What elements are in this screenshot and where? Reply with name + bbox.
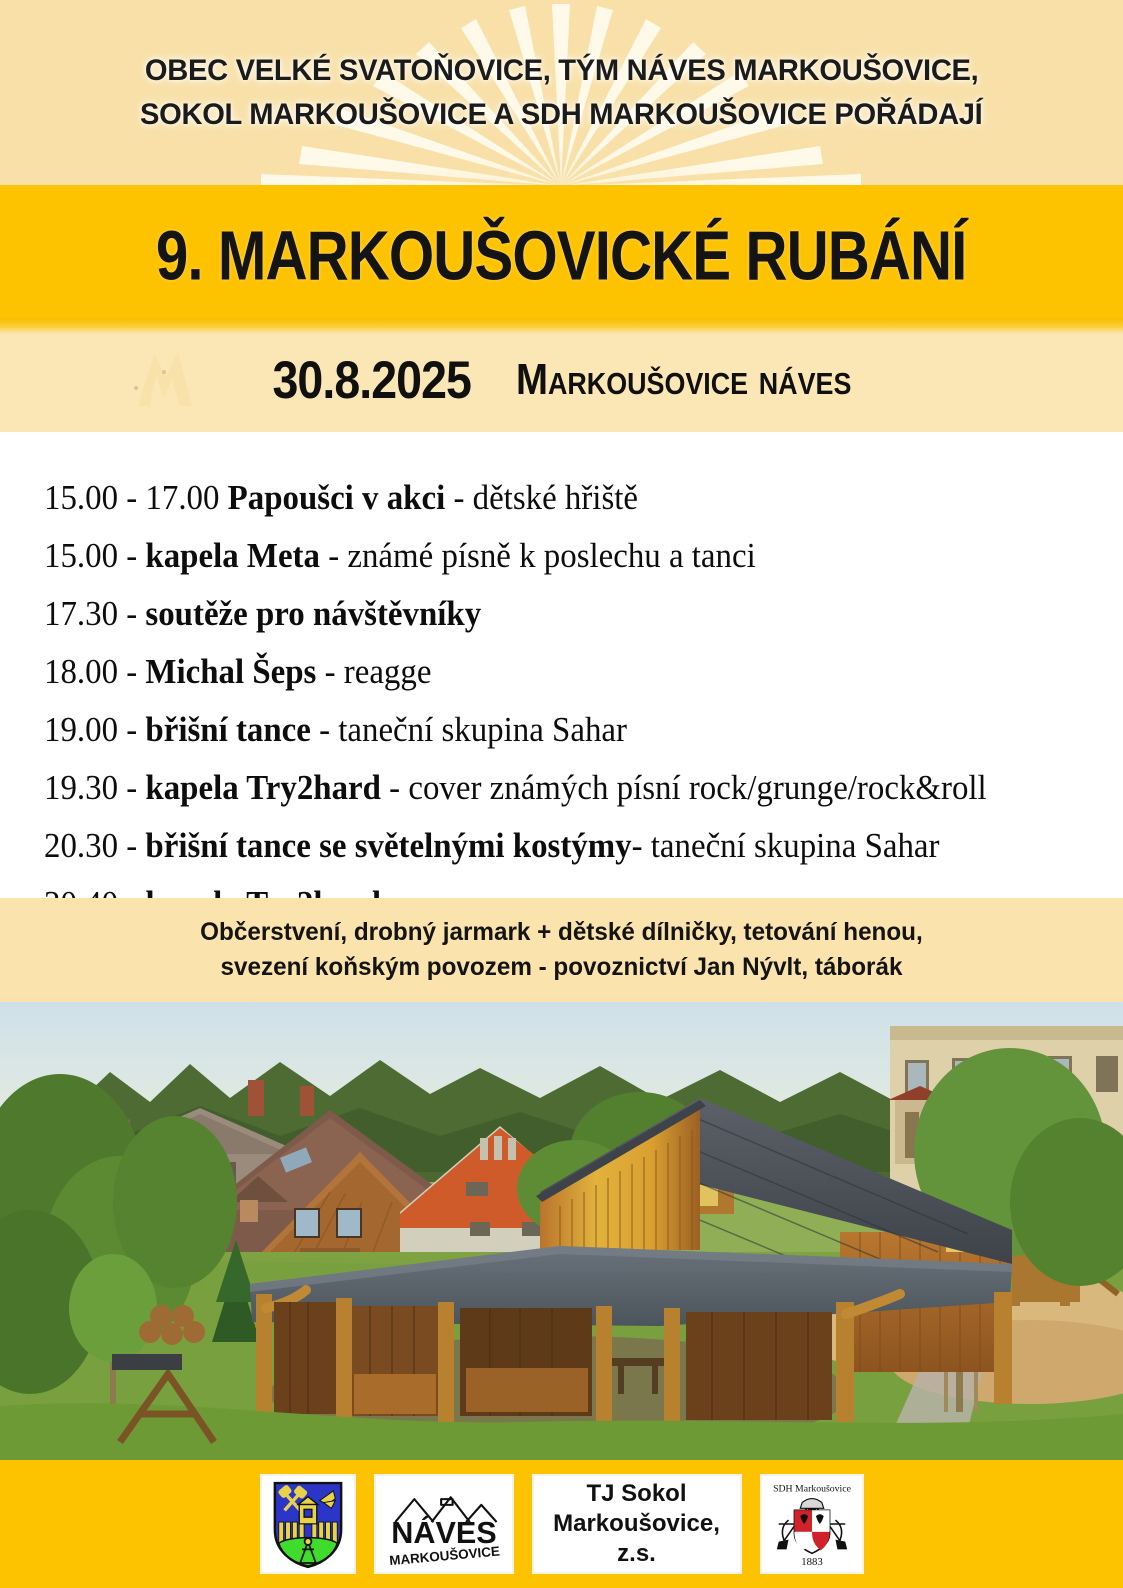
program-desc: - dětské hřiště bbox=[445, 478, 638, 517]
program-row: 18.00 - Michal Šeps - reagge bbox=[44, 654, 1021, 689]
program-row: 15.00 - 17.00 Papoušci v akci - dětské h… bbox=[44, 480, 1021, 515]
program-act: kapela Meta bbox=[145, 536, 320, 575]
program-act: Michal Šeps bbox=[145, 652, 316, 691]
organizer-line-2: SOKOL MARKOUŠOVICE A SDH MARKOUŠOVICE PO… bbox=[140, 98, 982, 132]
village-pavilion-illustration bbox=[0, 1002, 1123, 1460]
event-place: Markoušovice náves bbox=[516, 356, 851, 405]
title-band: 9. MARKOUŠOVICKÉ RUBÁNÍ bbox=[0, 185, 1123, 328]
sdh-title: SDH Markoušovice bbox=[773, 1484, 851, 1495]
info-band: Občerstvení, drobný jarmark + dětské díl… bbox=[0, 898, 1123, 1002]
watermark-ghost-icon bbox=[120, 336, 290, 424]
info-line-1: Občerstvení, drobný jarmark + dětské díl… bbox=[200, 918, 923, 947]
sokol-line-1: TJ Sokol bbox=[534, 1479, 740, 1509]
program-desc: - taneční skupina Sahar bbox=[311, 710, 627, 749]
page-title: 9. MARKOUŠOVICKÉ RUBÁNÍ bbox=[156, 217, 967, 297]
program-time: 15.00 - bbox=[44, 536, 145, 575]
program-row: 17.30 - soutěže pro návštěvníky bbox=[44, 596, 1021, 631]
program-time: 15.00 - 17.00 bbox=[44, 478, 228, 517]
program-time: 20.30 - bbox=[44, 826, 145, 865]
program-desc: - reagge bbox=[316, 652, 431, 691]
program-row: 19.30 - kapela Try2hard - cover známých … bbox=[44, 770, 1021, 805]
program-row: 20.30 - břišní tance se světelnými kostý… bbox=[44, 828, 1021, 863]
program-desc: - taneční skupina Sahar bbox=[632, 826, 940, 865]
logo-naves[interactable]: NÁVES MARKOUŠOVICE bbox=[374, 1474, 514, 1574]
program-time: 19.30 - bbox=[44, 768, 145, 807]
program-act: břišní tance se světelnými kostýmy bbox=[145, 826, 631, 865]
logo-band: NÁVES MARKOUŠOVICE TJ Sokol Markoušovice… bbox=[0, 1460, 1123, 1588]
program-row: 15.00 - kapela Meta - známé písně k posl… bbox=[44, 538, 1021, 573]
organizer-line-1: OBEC VELKÉ SVATOŇOVICE, TÝM NÁVES MARKOU… bbox=[145, 54, 979, 88]
info-line-2: svezení koňským povozem - povoznictví Ja… bbox=[221, 953, 903, 982]
logo-coat-of-arms[interactable] bbox=[260, 1474, 356, 1574]
program-list: 15.00 - 17.00 Papoušci v akci - dětské h… bbox=[0, 432, 1123, 898]
poster-header: OBEC VELKÉ SVATOŇOVICE, TÝM NÁVES MARKOU… bbox=[0, 0, 1123, 185]
program-act: soutěže pro návštěvníky bbox=[145, 594, 481, 633]
program-time: 19.00 - bbox=[44, 710, 145, 749]
coat-of-arms-icon bbox=[269, 1479, 347, 1569]
venue-photo bbox=[0, 1002, 1123, 1460]
program-time: 17.30 - bbox=[44, 594, 145, 633]
program-time: 18.00 - bbox=[44, 652, 145, 691]
program-desc: - známé písně k poslechu a tanci bbox=[320, 536, 756, 575]
logo-sokol[interactable]: TJ Sokol Markoušovice, z.s. bbox=[532, 1474, 742, 1574]
sdh-emblem-icon: SDH Markoušovice bbox=[765, 1479, 859, 1569]
event-date: 30.8.2025 bbox=[273, 349, 471, 410]
program-act: Papoušci v akci bbox=[228, 478, 446, 517]
program-act: břišní tance bbox=[145, 710, 310, 749]
sdh-year: 1883 bbox=[801, 1556, 823, 1568]
program-desc: - cover známých písní rock/grunge/rock&r… bbox=[381, 768, 987, 807]
sokol-line-2: Markoušovice, z.s. bbox=[534, 1509, 740, 1569]
naves-logo-icon: NÁVES MARKOUŠOVICE bbox=[381, 1480, 507, 1568]
logo-sdh[interactable]: SDH Markoušovice bbox=[760, 1474, 864, 1574]
date-band: 30.8.2025 Markoušovice náves bbox=[0, 328, 1123, 432]
program-row: 19.00 - břišní tance - taneční skupina S… bbox=[44, 712, 1021, 747]
program-act: kapela Try2hard bbox=[145, 768, 381, 807]
